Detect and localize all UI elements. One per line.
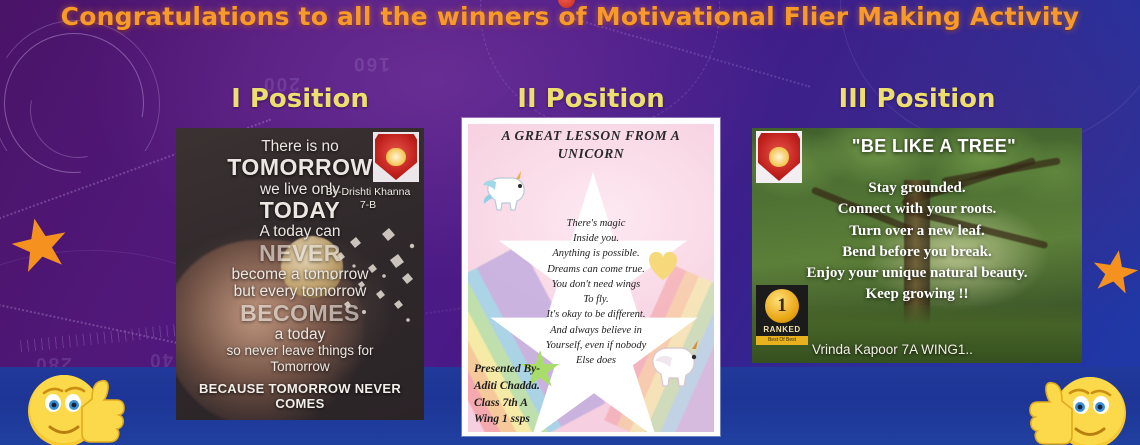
poster2-credit-4: Wing 1 ssps	[474, 413, 530, 425]
poster1-byline-class: 7-B	[360, 199, 376, 211]
badge-rank-number: 1	[765, 289, 799, 323]
winner-poster-2[interactable]: A GREAT LESSON FROM A UNICORN	[462, 118, 720, 436]
poster1-line-7: become a tomorrow	[184, 266, 416, 283]
decor-arc	[4, 33, 144, 173]
position-heading-1: I Position	[176, 84, 424, 114]
poster2-credit-1: Presented By-	[474, 363, 540, 375]
decor-arc	[30, 62, 126, 158]
poster3-credit: Vrinda Kapoor 7A WING1..	[812, 342, 973, 357]
star-icon	[7, 213, 73, 277]
poster2-verse-3: Anything is possible.	[552, 248, 639, 259]
poster2-verse-7: It's okay to be different.	[547, 309, 646, 320]
decor-ghost-number: 160	[352, 52, 390, 74]
unicorn-icon	[646, 338, 708, 390]
poster2-verse-1: There's magic	[567, 218, 626, 229]
poster2-verse-8: And always believe in	[550, 325, 642, 336]
school-crest-icon	[756, 131, 802, 183]
thumbs-up-emoji	[1024, 357, 1132, 445]
badge-sublabel: Best Of Best	[756, 336, 808, 345]
poster3-line-6: Keep growing !!	[762, 284, 1072, 305]
header-banner: Congratulations to all the winners of Mo…	[0, 0, 1140, 32]
poster1-line-12: Tomorrow	[184, 359, 416, 375]
poster2-credit-2: Aditi Chadda.	[474, 380, 540, 392]
unicorn-icon	[482, 170, 534, 214]
poster1-byline: By-Drishti Khanna 7-B	[316, 186, 420, 212]
poster2-title-line1: A GREAT LESSON FROM A	[502, 128, 681, 143]
poster2-title: A GREAT LESSON FROM A UNICORN	[468, 124, 714, 163]
decor-arc	[0, 20, 160, 188]
poster2-credit-3: Class 7th A	[474, 397, 528, 409]
position-heading-3: III Position	[752, 84, 1082, 114]
poster3-line-2: Connect with your roots.	[762, 199, 1072, 220]
poster1-line-6: NEVER	[184, 241, 416, 266]
poster3-line-3: Turn over a new leaf.	[762, 221, 1072, 242]
winner-poster-3[interactable]: "BE LIKE A TREE" Stay grounded. Connect …	[752, 128, 1082, 363]
ranked-badge: 1 RANKED Best Of Best	[756, 285, 808, 345]
poster2-verse-2: Inside you.	[573, 233, 619, 244]
poster2-verse-9: Yourself, even if nobody	[546, 340, 647, 351]
poster2-verse-5: You don't need wings	[552, 279, 641, 290]
winner-poster-1[interactable]: By-Drishti Khanna 7-B There is no TOMORR…	[176, 128, 424, 420]
poster3-line-5: Enjoy your unique natural beauty.	[762, 263, 1072, 284]
position-heading-2: II Position	[462, 84, 720, 114]
poster3-line-1: Stay grounded.	[762, 178, 1072, 199]
poster2-title-line2: UNICORN	[558, 146, 624, 161]
poster2-verse-10: Else does	[576, 355, 616, 366]
poster3-line-4: Bend before you break.	[762, 242, 1072, 263]
poster1-line-8: but every tomorrow	[184, 283, 416, 300]
poster1-line-11: so never leave things for	[184, 343, 416, 359]
poster1-line-9: BECOMES	[184, 301, 416, 326]
poster1-byline-name: By-Drishti Khanna	[326, 186, 411, 198]
poster2-credit: Presented By- Aditi Chadda. Class 7th A …	[474, 361, 540, 428]
slide-canvas: 280 240 200 160 Congratulations to all t…	[0, 0, 1140, 445]
poster1-line-5: A today can	[184, 223, 416, 240]
school-crest-icon	[373, 132, 419, 182]
thumbs-up-emoji	[22, 355, 130, 445]
poster1-footer: BECAUSE TOMORROW NEVER COMES	[176, 381, 424, 411]
star-icon	[1089, 246, 1140, 297]
poster2-verse-6: To fly.	[583, 294, 608, 305]
poster2-verse-4: Dreams can come true.	[547, 264, 645, 275]
badge-label: RANKED	[763, 325, 800, 334]
poster1-line-10: a today	[184, 326, 416, 343]
